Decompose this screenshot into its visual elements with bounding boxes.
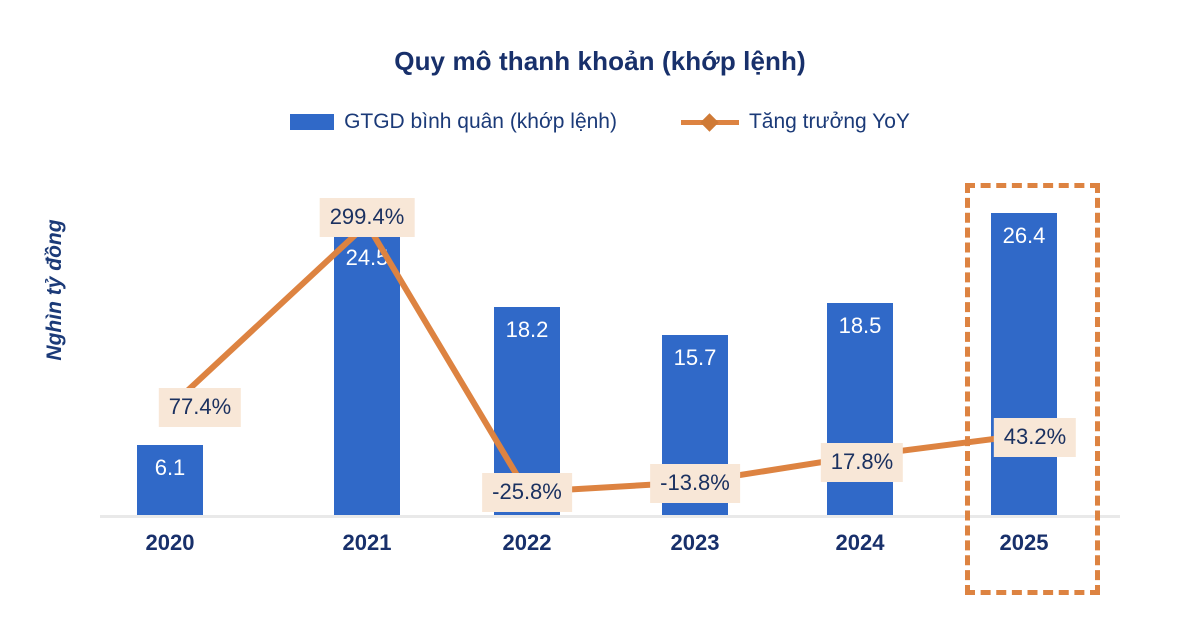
pct-label-2024: 17.8% [821,443,903,482]
plot-area: Nghìn tỷ đồng 6.1 24.5 18.2 15.7 18.5 26… [0,0,1200,624]
pct-label-2020: 77.4% [159,388,241,427]
chart-container: Quy mô thanh khoản (khớp lệnh) GTGD bình… [0,0,1200,624]
pct-label-2023: -13.8% [650,464,740,503]
x-tick-2021: 2021 [307,530,427,556]
x-tick-2023: 2023 [635,530,755,556]
x-tick-2022: 2022 [467,530,587,556]
x-tick-2020: 2020 [110,530,230,556]
x-tick-2024: 2024 [800,530,920,556]
pct-label-2022: -25.8% [482,473,572,512]
x-tick-2025: 2025 [964,530,1084,556]
pct-label-2021: 299.4% [320,198,415,237]
